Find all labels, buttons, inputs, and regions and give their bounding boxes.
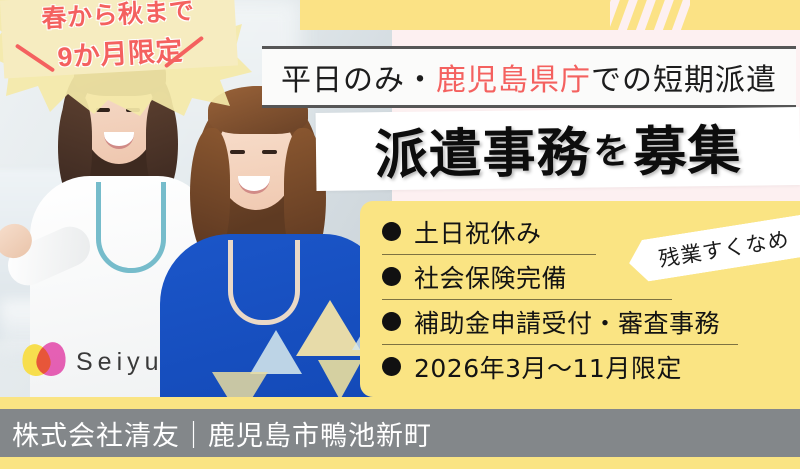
- benefit-label: 社会保険完備: [414, 259, 567, 295]
- benefit-item-4: 2026年3月〜11月限定: [382, 345, 792, 389]
- heart-logo-icon: [22, 341, 68, 383]
- headline-part-1: 派遣事務: [374, 111, 591, 190]
- headline-text: 派遣事務を募集: [316, 107, 800, 191]
- bullet-dot-icon: [382, 222, 401, 241]
- subheadline-text: 平日のみ・鹿児島県庁での短期派遣: [281, 55, 777, 99]
- footer-bar: 株式会社清友｜鹿児島市鴨池新町: [0, 409, 800, 457]
- bullet-dot-icon: [382, 357, 401, 376]
- footer-divider: ｜: [180, 421, 208, 452]
- benefit-label: 2026年3月〜11月限定: [414, 349, 682, 385]
- headline-particle: を: [590, 122, 634, 175]
- bullet-dot-icon: [382, 312, 401, 331]
- subheadline-box: 平日のみ・鹿児島県庁での短期派遣: [262, 46, 796, 108]
- footer-text: 株式会社清友｜鹿児島市鴨池新町: [0, 414, 432, 453]
- bullet-dot-icon: [382, 267, 401, 286]
- limited-period-burst: 春から秋まで 9か月限定: [0, 0, 252, 116]
- job-ad-banner: 春から秋まで 9か月限定 平日のみ・鹿児島県庁での短期派遣 派遣事務を募集 土日…: [0, 0, 800, 469]
- subheadline-prefix: 平日のみ・: [281, 63, 436, 98]
- company-logo: Seiyu: [22, 334, 172, 390]
- subheadline-suffix: での短期派遣: [591, 63, 777, 98]
- footer-company: 株式会社清友: [12, 421, 180, 452]
- logo-wordmark: Seiyu: [76, 348, 164, 377]
- benefit-item-3: 補助金申請受付・審査事務: [382, 300, 792, 344]
- subheadline-highlight: 鹿児島県庁: [436, 63, 591, 98]
- benefit-label: 補助金申請受付・審査事務: [414, 304, 720, 340]
- headline-part-2: 募集: [633, 109, 742, 186]
- footer-location: 鹿児島市鴨池新町: [208, 421, 432, 452]
- footer-strip-bottom: [0, 457, 800, 469]
- burst-line-2: 9か月限定: [56, 28, 184, 74]
- footer-strip-top: [0, 397, 800, 409]
- benefit-label: 土日祝休み: [414, 214, 542, 250]
